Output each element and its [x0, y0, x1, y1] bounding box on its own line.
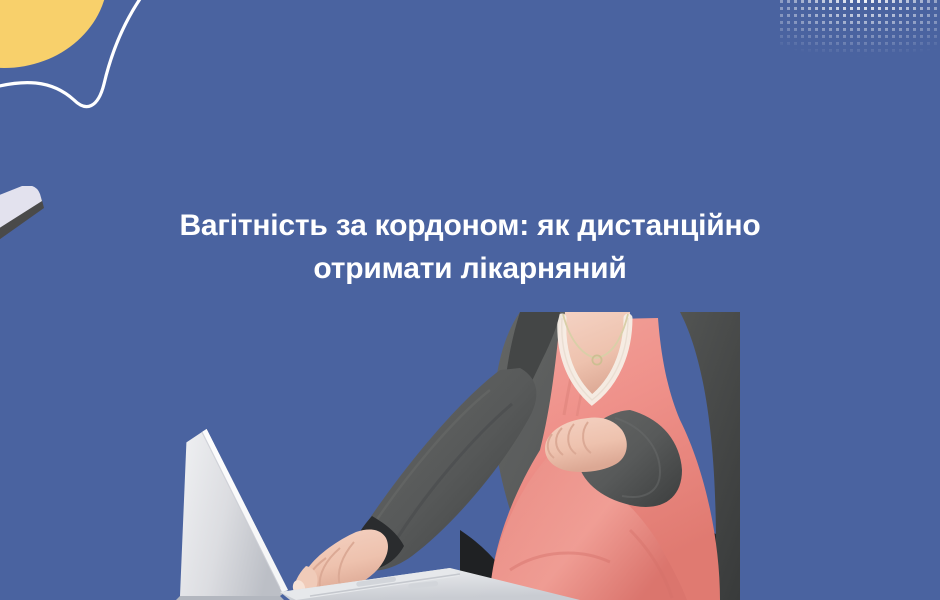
page-title: Вагітність за кордоном: як дистанційно о…: [0, 205, 940, 290]
white-curve-line-decoration: [0, 0, 174, 112]
title-line-2: отримати лікарняний: [70, 248, 870, 291]
promo-banner-canvas: Вагітність за кордоном: як дистанційно о…: [0, 0, 940, 600]
title-line-1: Вагітність за кордоном: як дистанційно: [70, 205, 870, 248]
pregnant-woman-at-laptop-photo: [160, 300, 760, 600]
halftone-dot-grid-decoration: [780, 0, 940, 60]
